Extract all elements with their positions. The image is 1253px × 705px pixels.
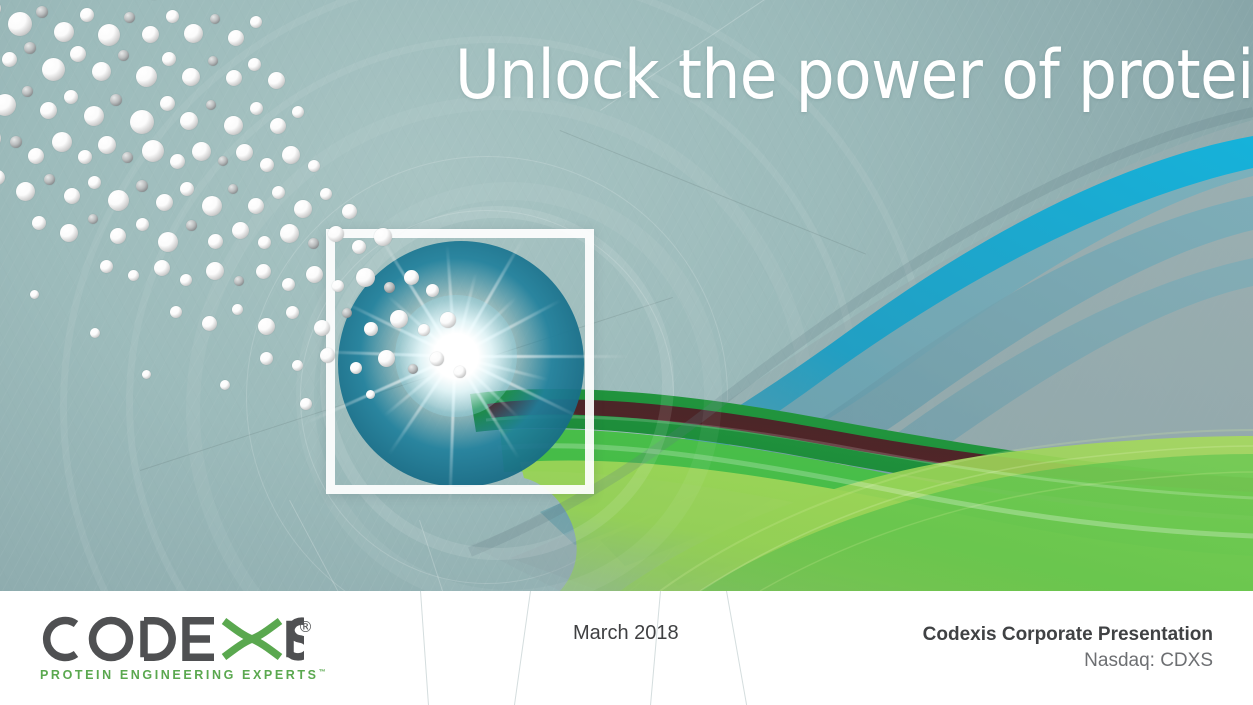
- slide-title: Unlock the power of proteinsTM: [455, 36, 1253, 115]
- footer-right-block: Codexis Corporate Presentation Nasdaq: C…: [923, 622, 1213, 674]
- codexis-logo: ® PROTEIN ENGINEERING EXPERTS™: [36, 612, 316, 686]
- footer-hairline: [513, 591, 531, 705]
- hero-artwork: Unlock the power of proteinsTM: [0, 0, 1253, 591]
- logo-tagline-text: PROTEIN ENGINEERING EXPERTS: [40, 668, 319, 682]
- white-square-frame: [326, 229, 594, 494]
- footer-hairline: [726, 591, 748, 705]
- tagline-trademark-icon: ™: [319, 669, 326, 676]
- presentation-title-slide: Unlock the power of proteinsTM: [0, 0, 1253, 705]
- footer-hairline: [420, 591, 429, 705]
- stock-ticker: Nasdaq: CDXS: [923, 648, 1213, 674]
- presentation-name: Codexis Corporate Presentation: [923, 622, 1213, 648]
- logo-tagline: PROTEIN ENGINEERING EXPERTS™: [40, 668, 326, 682]
- codexis-wordmark: [36, 612, 304, 666]
- slide-title-text: Unlock the power of proteins: [455, 36, 1253, 115]
- registered-trademark-icon: ®: [298, 618, 313, 636]
- presentation-date: March 2018: [573, 622, 679, 645]
- footer-hairline: [650, 591, 661, 705]
